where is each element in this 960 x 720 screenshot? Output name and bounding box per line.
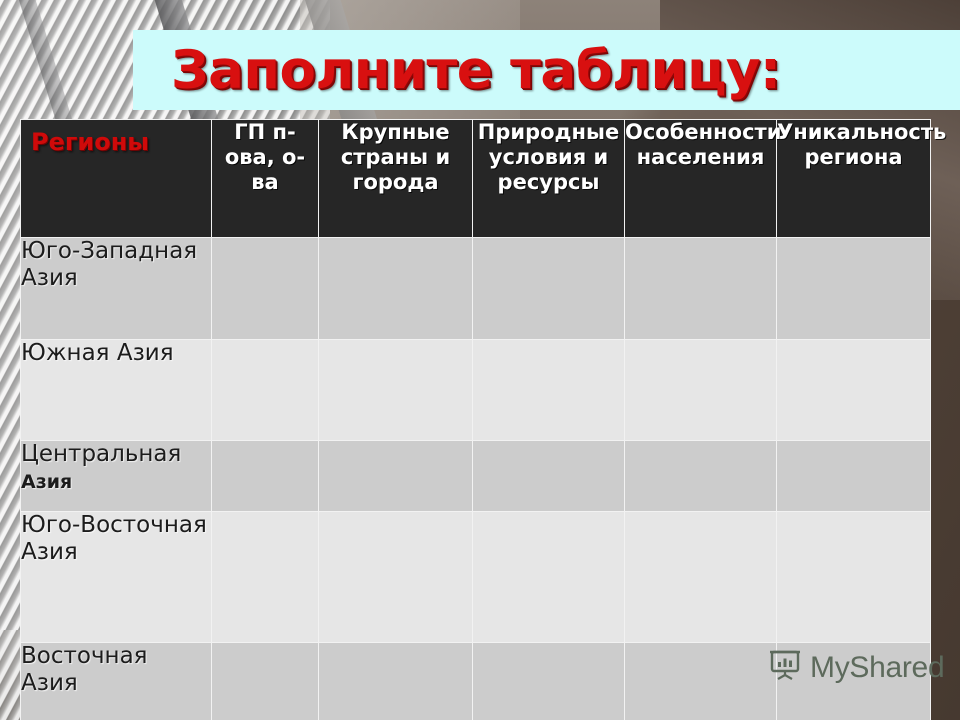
cell-empty[interactable] (625, 441, 777, 512)
row-label-east-asia: Восточная Азия (21, 643, 212, 720)
cell-empty[interactable] (319, 238, 473, 340)
table-row: Восточная Азия (21, 643, 931, 720)
table-row: Юго-Восточная Азия (21, 512, 931, 643)
fill-in-table: Регионы ГП п-ова, о-ва Крупные страны и … (20, 119, 930, 711)
cell-empty[interactable] (212, 340, 319, 441)
table-row: Юго-Западная Азия (21, 238, 931, 340)
cell-empty[interactable] (625, 643, 777, 720)
cell-empty[interactable] (473, 643, 625, 720)
table-row: Южная Азия (21, 340, 931, 441)
page-title: Заполните таблицу: (171, 44, 781, 97)
row-label-central-asia: Центральная Азия (21, 441, 212, 512)
column-header-region-uniqueness: Уникальность региона (777, 120, 931, 238)
cell-empty[interactable] (212, 238, 319, 340)
cell-empty[interactable] (625, 512, 777, 643)
column-header-major-countries-cities: Крупные страны и города (319, 120, 473, 238)
cell-empty[interactable] (319, 441, 473, 512)
cell-empty[interactable] (212, 441, 319, 512)
row-label-central-asia-suffix: Азия (21, 471, 72, 493)
row-label-central-asia-main: Центральная (21, 441, 181, 467)
row-label-south-asia: Южная Азия (21, 340, 212, 441)
cell-empty[interactable] (777, 340, 931, 441)
table-header-row: Регионы ГП п-ова, о-ва Крупные страны и … (21, 120, 931, 238)
column-header-population-features: Особенности населения (625, 120, 777, 238)
cell-empty[interactable] (212, 643, 319, 720)
cell-empty[interactable] (777, 238, 931, 340)
cell-empty[interactable] (473, 512, 625, 643)
cell-empty[interactable] (319, 512, 473, 643)
cell-empty[interactable] (777, 643, 931, 720)
table-row: Центральная Азия (21, 441, 931, 512)
cell-empty[interactable] (319, 643, 473, 720)
column-header-regions: Регионы (21, 120, 212, 238)
cell-empty[interactable] (319, 340, 473, 441)
row-label-southeast-asia: Юго-Восточная Азия (21, 512, 212, 643)
cell-empty[interactable] (777, 441, 931, 512)
title-banner: Заполните таблицу: (133, 30, 960, 110)
cell-empty[interactable] (212, 512, 319, 643)
cell-empty[interactable] (473, 238, 625, 340)
column-header-natural-conditions-resources: Природные условия и ресурсы (473, 120, 625, 238)
slide-canvas: Заполните таблицу: Регионы ГП п-ова, о-в… (0, 0, 960, 720)
cell-empty[interactable] (473, 441, 625, 512)
column-header-geographic-position: ГП п-ова, о-ва (212, 120, 319, 238)
cell-empty[interactable] (777, 512, 931, 643)
cell-empty[interactable] (625, 340, 777, 441)
cell-empty[interactable] (625, 238, 777, 340)
row-label-southwest-asia: Юго-Западная Азия (21, 238, 212, 340)
cell-empty[interactable] (473, 340, 625, 441)
